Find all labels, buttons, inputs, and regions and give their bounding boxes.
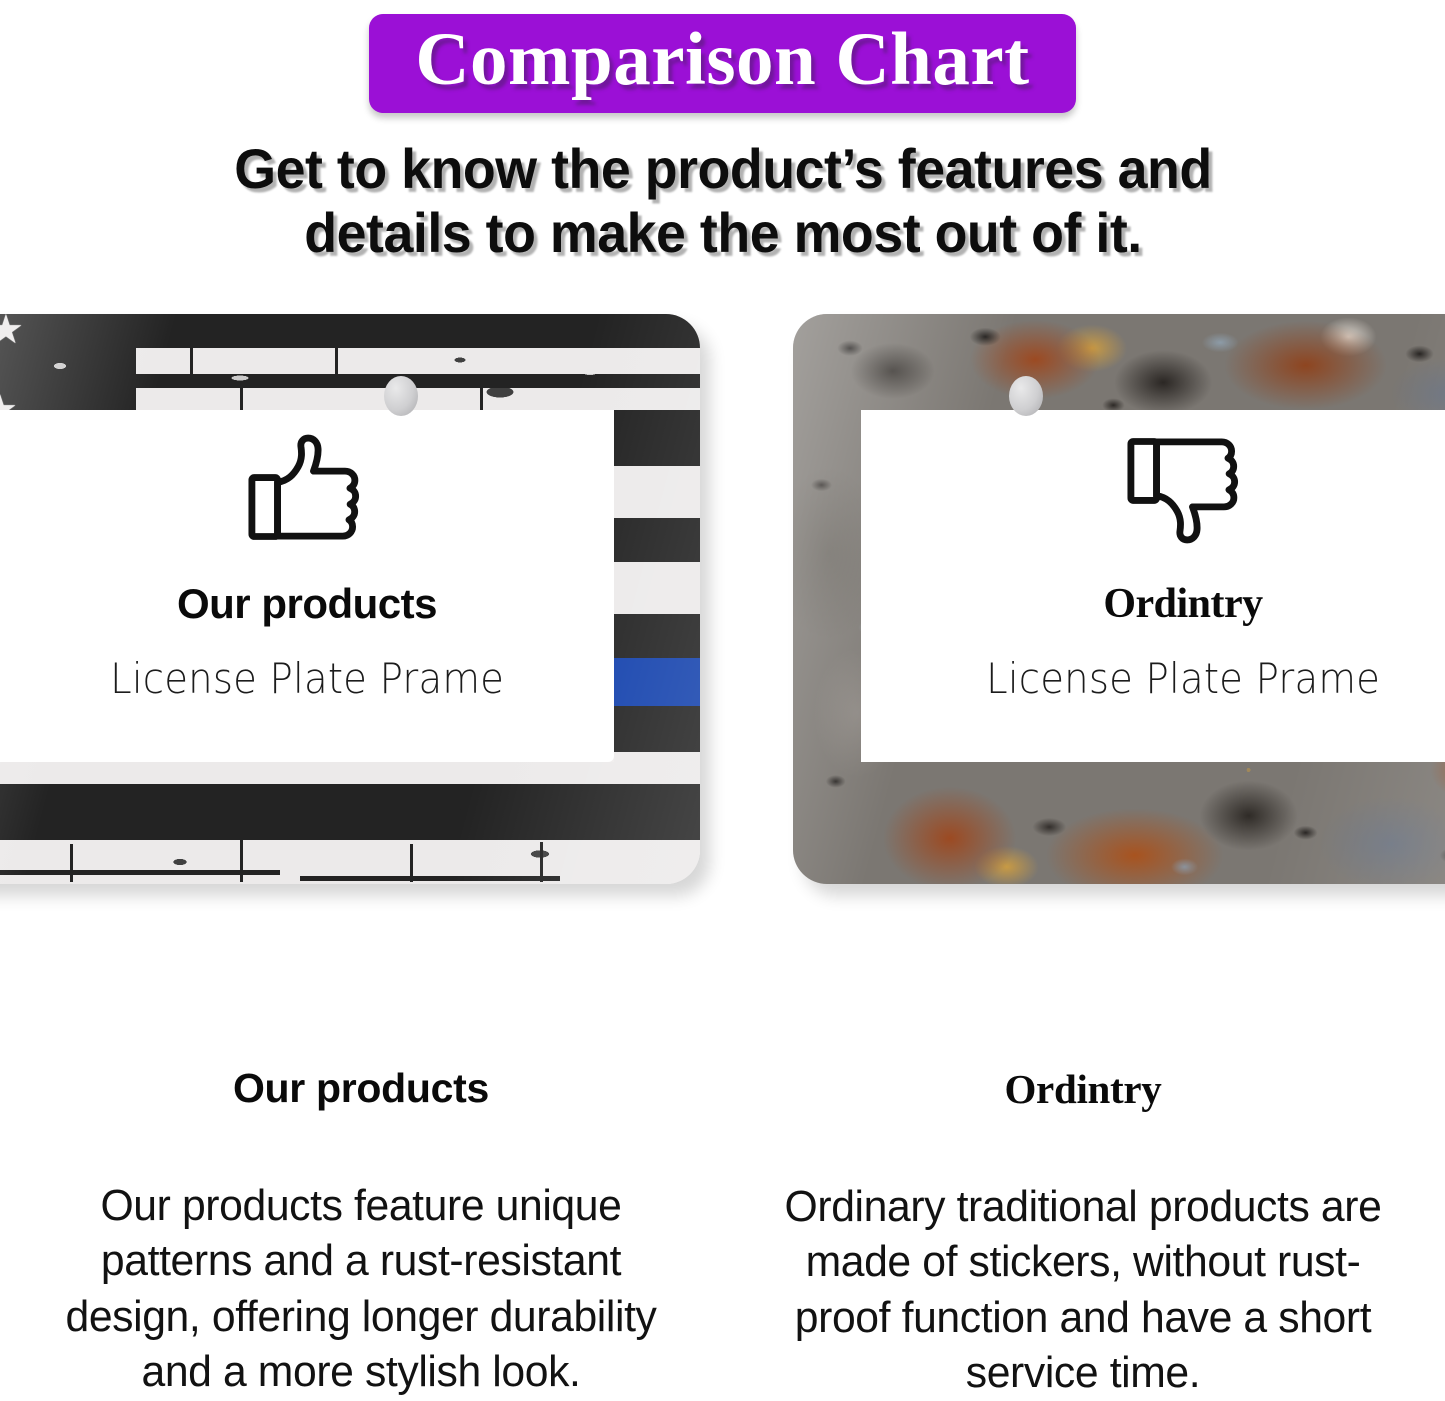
page-header: Comparison Chart Get to know the product… <box>0 0 1445 266</box>
our-product-summary-column: Our products Our products feature unique… <box>0 1065 722 1401</box>
ordinary-product-subheading: License Plate Prame <box>986 654 1380 703</box>
our-product-heading: Our products <box>177 580 437 628</box>
ordinary-product-heading: Ordintry <box>1103 580 1262 628</box>
ordinary-product-frame-image: Ordintry License Plate Prame <box>793 314 1445 884</box>
thumbs-down-icon <box>1125 432 1247 546</box>
our-product-summary-heading: Our products <box>36 1065 686 1112</box>
ordinary-product-window-content: Ordintry License Plate Prame <box>861 432 1445 703</box>
comparison-summary-row: Our products Our products feature unique… <box>0 1065 1445 1401</box>
star-icon: ★ <box>0 314 24 350</box>
ordinary-product-summary-body: Ordinary traditional products are made o… <box>768 1179 1399 1401</box>
our-product-frame-image: ★ ★ ★ ★ ★ <box>0 314 700 884</box>
ordinary-product-summary-heading: Ordintry <box>758 1065 1408 1113</box>
ordinary-product-summary-column: Ordintry Ordinary traditional products a… <box>722 1065 1444 1401</box>
title-banner-wrap: Comparison Chart <box>0 14 1445 113</box>
page-title: Comparison Chart <box>415 22 1029 99</box>
our-product-summary-body: Our products feature unique patterns and… <box>46 1178 677 1400</box>
our-product-subheading: License Plate Prame <box>110 654 504 703</box>
thumbs-up-icon <box>246 432 368 546</box>
product-comparison-images: ★ ★ ★ ★ ★ <box>0 314 1445 899</box>
thin-blue-line-stripe <box>614 658 700 706</box>
page-subtitle: Get to know the product’s features and d… <box>151 137 1293 267</box>
our-product-window-content: Our products License Plate Prame <box>0 432 614 703</box>
title-banner: Comparison Chart <box>369 14 1075 113</box>
